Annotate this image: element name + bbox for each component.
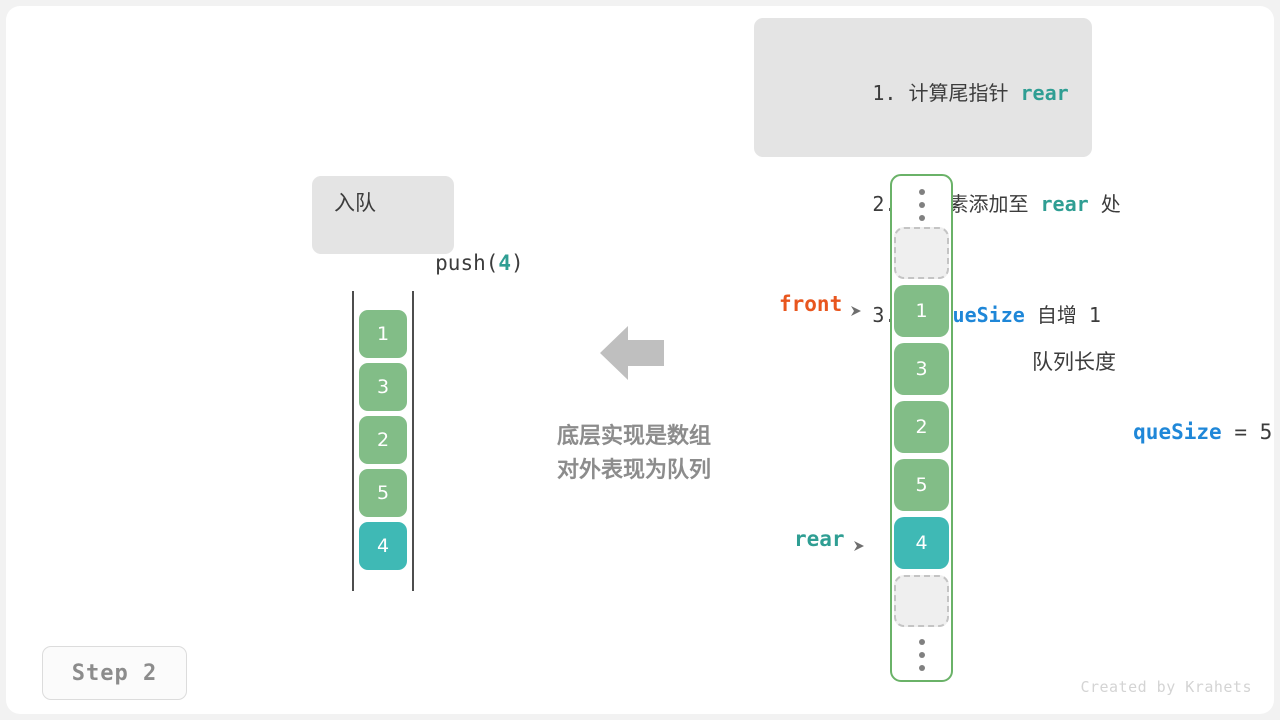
array-slot: 2 (894, 401, 949, 453)
dot (919, 189, 925, 195)
queue-size-var: queSize (1133, 420, 1222, 444)
diagram-card: 1. 计算尾指针 rear 2. 将元素添加至 rear 处 3. 将 queS… (6, 6, 1274, 714)
queue-cell-list: 1 3 2 5 4 (359, 310, 407, 575)
step-badge: Step 2 (42, 646, 187, 700)
array-slot-empty (894, 227, 949, 279)
center-caption-line1: 底层实现是数组 (521, 420, 747, 454)
queue-size-note: 队列长度 queSize = 5 (1032, 346, 1272, 486)
rear-pointer-label: rear (794, 527, 845, 551)
instruction-1-text-before: 计算尾指针 (896, 81, 1020, 105)
array-slot-empty (894, 575, 949, 627)
array-ellipsis-top-icon (919, 189, 925, 221)
queue-cell-highlighted: 4 (359, 522, 407, 570)
instruction-3-text-after: 自增 1 (1025, 303, 1101, 327)
instruction-1-index: 1. (872, 81, 896, 105)
rear-pointer: rear (794, 527, 865, 551)
array-slot-highlighted: 4 (894, 517, 949, 569)
instruction-1-code: rear (1021, 81, 1069, 105)
queue-cell: 3 (359, 363, 407, 411)
dot (919, 639, 925, 645)
diagram-page: 1. 计算尾指针 rear 2. 将元素添加至 rear 处 3. 将 queS… (0, 0, 1280, 720)
queue-cell: 1 (359, 310, 407, 358)
dot (919, 665, 925, 671)
center-caption: 底层实现是数组 对外表现为队列 (521, 420, 747, 488)
queue-visual: 1 3 2 5 4 (352, 291, 414, 591)
instruction-3-code: queSize (941, 303, 1025, 327)
queue-size-expression: queSize = 5 (1032, 378, 1272, 486)
instruction-line-1: 1. 计算尾指针 rear (776, 38, 1070, 149)
credit-text: Created by Krahets (1080, 678, 1252, 696)
pointer-arrow-icon (853, 533, 865, 545)
pointer-arrow-icon (850, 298, 862, 310)
operation-title: 入队 (334, 188, 454, 218)
instruction-box: 1. 计算尾指针 rear 2. 将元素添加至 rear 处 3. 将 queS… (754, 18, 1092, 157)
queue-rail-left (352, 291, 354, 591)
queue-rail-right (412, 291, 414, 591)
operation-call-suffix: ) (511, 251, 524, 275)
queue-cell: 2 (359, 416, 407, 464)
operation-call-arg: 4 (498, 251, 511, 275)
operation-box: 入队 push(4) (312, 176, 454, 254)
instruction-2-code: rear (1041, 192, 1089, 216)
queue-cell: 5 (359, 469, 407, 517)
dot (919, 652, 925, 658)
array-slot: 5 (894, 459, 949, 511)
instruction-2-text-after: 处 (1089, 192, 1121, 216)
array-slot: 1 (894, 285, 949, 337)
array-slot: 3 (894, 343, 949, 395)
array-ellipsis-bottom-icon (919, 639, 925, 671)
dot (919, 202, 925, 208)
array-visual: 1 3 2 5 4 (890, 174, 953, 682)
queue-size-value: 5 (1260, 420, 1273, 444)
dot (919, 215, 925, 221)
front-pointer: front (779, 292, 862, 316)
arrow-left-icon (600, 326, 664, 380)
queue-size-label: 队列长度 (1032, 346, 1272, 378)
array-slot-list: 1 3 2 5 4 (892, 176, 951, 680)
center-caption-line2: 对外表现为队列 (521, 454, 747, 488)
operation-call-prefix: push( (435, 251, 498, 275)
queue-size-equals: = (1222, 420, 1260, 444)
front-pointer-label: front (779, 292, 842, 316)
